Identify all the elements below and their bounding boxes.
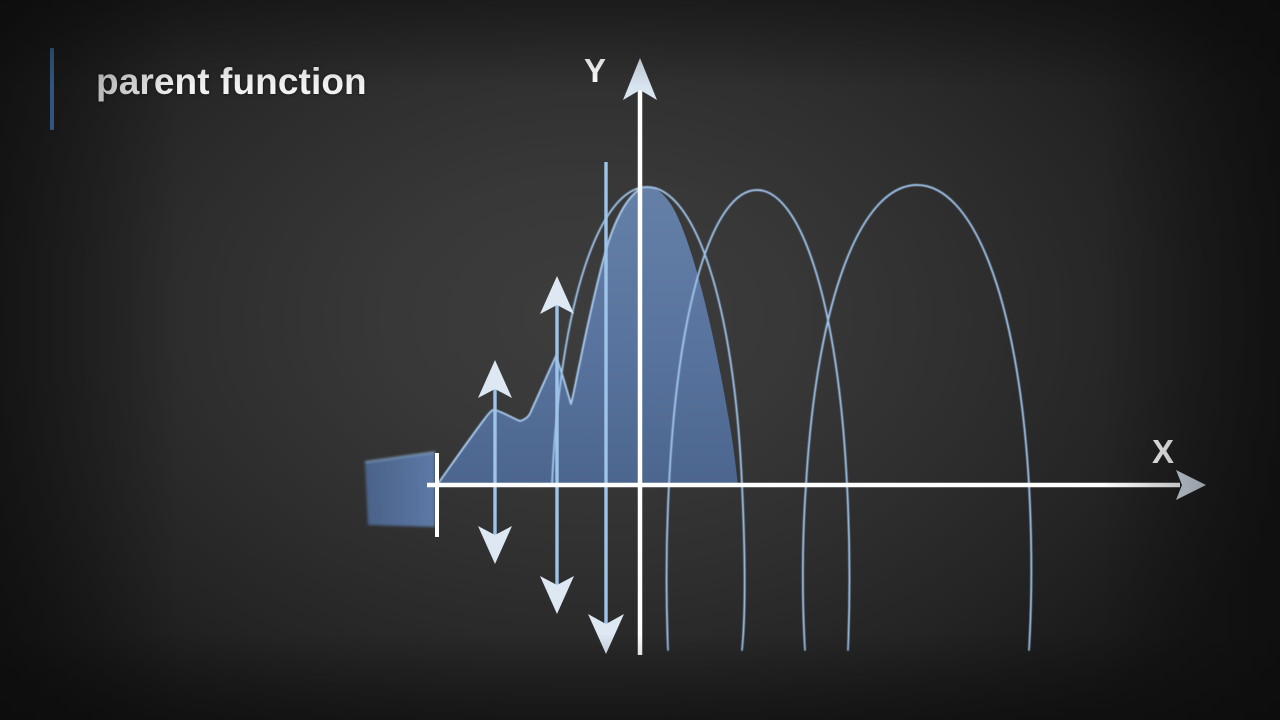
y-axis-label: Y (584, 52, 606, 89)
curve-arch-3 (803, 185, 1031, 650)
curve-outlines (437, 185, 1031, 650)
left-tail-polygon (365, 452, 435, 527)
slide-canvas: parent function (0, 0, 1280, 720)
x-axis-arrowhead (1176, 470, 1206, 500)
x-axis-label: X (1152, 433, 1174, 470)
shaded-region (437, 187, 738, 485)
series-filled-area (437, 187, 738, 485)
axes (427, 58, 1206, 655)
function-graph: Y X (0, 0, 1280, 720)
series-shaded-left-tail-block (365, 452, 435, 527)
